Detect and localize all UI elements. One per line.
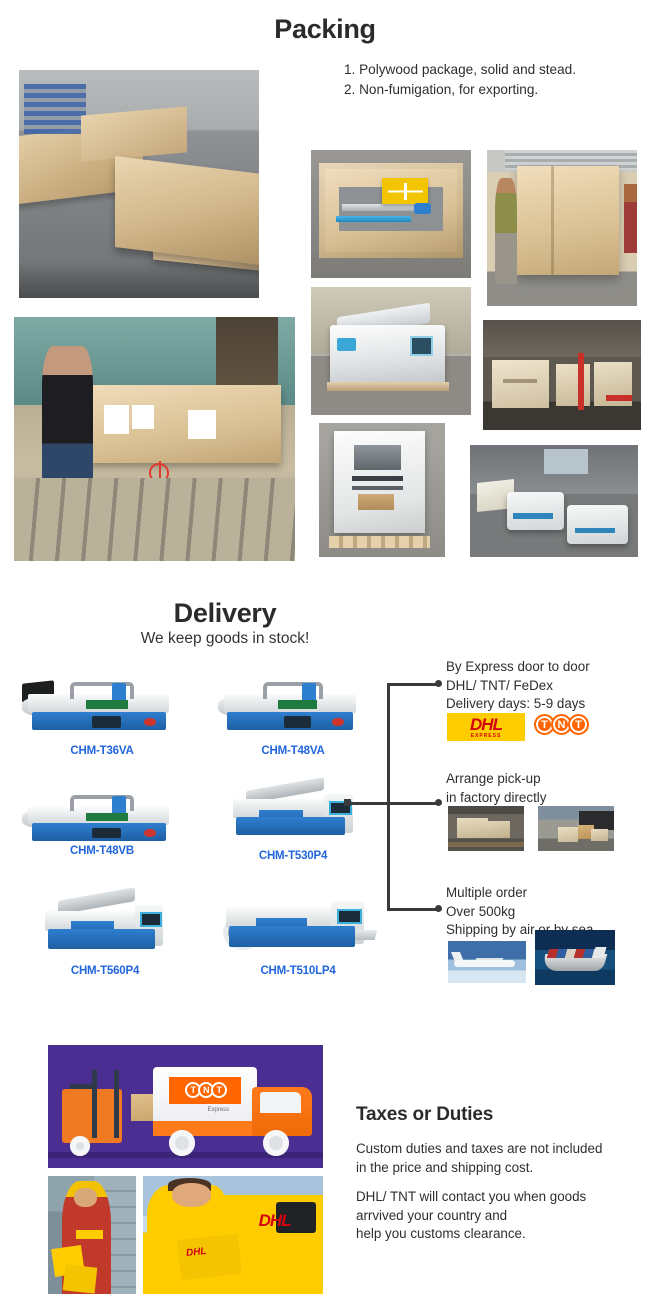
connector-dot-top xyxy=(435,680,442,687)
machine-body xyxy=(334,431,425,533)
machine-label-chm-t36va: CHM-T36VA xyxy=(22,745,182,757)
delivery-title: Delivery xyxy=(30,598,420,629)
screen-detail xyxy=(92,716,121,728)
pickup-line-1: Arrange pick-up xyxy=(446,770,546,789)
connector-branch-middle xyxy=(345,802,439,805)
floor-detail xyxy=(14,478,295,561)
crate-detail xyxy=(153,191,259,273)
crate-detail xyxy=(319,163,463,258)
machine-label-chm-t510lp4: CHM-T510LP4 xyxy=(218,965,378,977)
crate-detail xyxy=(457,818,487,839)
shelf-detail xyxy=(24,84,86,134)
machine-chm-t530p4 xyxy=(228,775,358,847)
taxes-p1-line-2: in the price and shipping cost. xyxy=(356,1159,602,1178)
rail-detail xyxy=(342,204,423,211)
base-detail xyxy=(236,817,345,836)
tnt-letter-3: T xyxy=(568,714,589,735)
machine-on-pallet-photo xyxy=(311,287,471,415)
taxes-p2-line-1: DHL/ TNT will contact you when goods xyxy=(356,1188,586,1207)
truck-wheel xyxy=(169,1130,195,1156)
taxes-paragraph-1: Custom duties and taxes are not included… xyxy=(356,1140,602,1177)
taxes-title: Taxes or Duties xyxy=(356,1104,493,1126)
connector-square-marker xyxy=(344,799,351,806)
rail-detail xyxy=(336,216,411,222)
dhl-van-photo: DHL DHL xyxy=(143,1176,323,1294)
two-machines-photo xyxy=(470,445,638,557)
tnt-logo-icon: T N T xyxy=(534,714,585,735)
forklift-wheel xyxy=(70,1136,90,1156)
machine-slot xyxy=(352,476,403,481)
base-detail xyxy=(48,929,156,949)
tnt-express-label: Express xyxy=(208,1107,230,1113)
crate-detail xyxy=(591,829,608,842)
machine-chm-t510lp4 xyxy=(220,880,370,960)
crates-in-container-photo xyxy=(483,320,641,430)
tnt-banner-logo-icon: T N T xyxy=(169,1077,241,1104)
express-line-3: Delivery days: 5-9 days xyxy=(446,695,590,714)
yellow-box-detail xyxy=(382,178,428,205)
screen-detail xyxy=(284,716,311,728)
window-detail xyxy=(544,449,588,474)
warehouse-crates-photo xyxy=(19,70,259,298)
bulk-line-1: Multiple order xyxy=(446,884,593,903)
parcel-dhl-wordmark: DHL xyxy=(186,1246,208,1259)
dhl-logo-icon: DHL EXPRESS xyxy=(447,713,525,741)
person-detail xyxy=(495,178,518,284)
machine-chm-t48va xyxy=(218,670,368,742)
factory-yard-crates-thumb xyxy=(538,806,614,851)
dhl-courier-photo xyxy=(48,1176,136,1294)
pallet-jack-detail xyxy=(606,395,631,402)
dhl-wordmark: DHL xyxy=(470,716,502,733)
express-line-2: DHL/ TNT/ FeDex xyxy=(446,677,590,696)
machine-slot xyxy=(352,486,403,490)
packing-bullets: 1. Polywood package, solid and stead. 2.… xyxy=(344,60,576,100)
crate-detail xyxy=(517,166,619,275)
taxes-p2-line-2: arrvived your country and xyxy=(356,1207,586,1226)
packing-title: Packing xyxy=(0,14,650,45)
person-detail xyxy=(624,184,638,253)
dhl-van-wordmark: DHL xyxy=(259,1211,291,1231)
delivery-subtitle: We keep goods in stock! xyxy=(30,630,420,648)
pallet-jack-detail xyxy=(578,353,584,410)
taxes-paragraph-2: DHL/ TNT will contact you when goods arr… xyxy=(356,1188,586,1244)
courier-face xyxy=(172,1183,212,1207)
pcb-detail xyxy=(86,700,128,709)
forklift-mast xyxy=(114,1070,119,1139)
dhl-sub-label: EXPRESS xyxy=(471,733,502,739)
taxes-p1-line-1: Custom duties and taxes are not included xyxy=(356,1140,602,1159)
connector-vertical-line xyxy=(387,683,390,911)
connector-branch-top xyxy=(387,683,439,686)
shipping-label xyxy=(188,410,216,439)
open-crate-machine-photo xyxy=(311,150,471,278)
machine-label-chm-t48va: CHM-T48VA xyxy=(218,745,368,757)
express-option: By Express door to door DHL/ TNT/ FeDex … xyxy=(446,658,590,714)
machine-body xyxy=(567,505,627,543)
air-freight-thumb xyxy=(448,941,526,983)
machine-body xyxy=(507,492,564,530)
connector-branch-bottom xyxy=(387,908,439,911)
wrapped-machine-photo xyxy=(319,423,445,557)
machine-chm-t560p4 xyxy=(40,885,168,961)
courier-face xyxy=(74,1188,97,1207)
express-line-1: By Express door to door xyxy=(446,658,590,677)
forklift-mast xyxy=(92,1070,97,1139)
tnt-letter-3: T xyxy=(211,1082,227,1098)
pcb-detail xyxy=(86,813,128,821)
page-root: Packing 1. Polywood package, solid and s… xyxy=(0,0,650,1306)
ship-containers xyxy=(547,949,599,958)
truck-loaded-crates-thumb xyxy=(448,806,524,851)
crate-detail xyxy=(484,821,510,838)
truck-skirt xyxy=(153,1121,258,1136)
plane-body xyxy=(454,960,515,967)
packing-bullet-1: 1. Polywood package, solid and stead. xyxy=(344,60,576,80)
crate-detail xyxy=(556,364,591,406)
connector-dot-bottom xyxy=(435,905,442,912)
blue-part-detail xyxy=(414,203,431,214)
machine-chm-t48vb xyxy=(22,784,182,852)
pallet-detail xyxy=(329,536,430,548)
dhl-band-detail xyxy=(76,1230,102,1238)
blue-part-detail xyxy=(337,338,356,351)
machine-glass xyxy=(358,494,394,510)
pallet-detail xyxy=(327,382,449,391)
man-moving-crate-photo xyxy=(487,150,637,306)
machine-window xyxy=(354,445,401,469)
crate-detail xyxy=(558,827,578,842)
crate-detail xyxy=(81,106,187,161)
machine-screen xyxy=(410,336,432,356)
connector-dot-middle xyxy=(435,799,442,806)
woman-with-crate-photo xyxy=(14,317,295,561)
taxes-p2-line-3: help you customs clearance. xyxy=(356,1225,586,1244)
crate-detail xyxy=(492,360,549,408)
pickup-line-2: in factory directly xyxy=(446,789,546,808)
pickup-option: Arrange pick-up in factory directly xyxy=(446,770,546,807)
bulk-line-2: Over 500kg xyxy=(446,903,593,922)
truck-window xyxy=(260,1092,301,1113)
screen-detail xyxy=(92,828,121,839)
shipping-label xyxy=(104,405,129,434)
sea-freight-thumb xyxy=(535,930,615,985)
container-wall xyxy=(483,320,641,357)
power-button-icon xyxy=(332,718,344,727)
truck-bed xyxy=(448,842,524,847)
shipping-label xyxy=(132,405,154,429)
machine-chm-t36va xyxy=(22,670,182,742)
machine-label-chm-t530p4: CHM-T530P4 xyxy=(223,850,363,862)
packing-bullet-2: 2. Non-fumigation, for exporting. xyxy=(344,80,576,100)
machine-label-chm-t48vb: CHM-T48VB xyxy=(22,845,182,857)
truck-wheel xyxy=(263,1130,289,1156)
floor-shadow xyxy=(19,262,259,298)
parcel-box-detail xyxy=(63,1264,97,1293)
pcb-detail xyxy=(278,700,317,709)
tnt-truck-banner: T N T Express xyxy=(48,1045,323,1168)
base-detail xyxy=(229,926,355,947)
machine-label-chm-t560p4: CHM-T560P4 xyxy=(25,965,185,977)
